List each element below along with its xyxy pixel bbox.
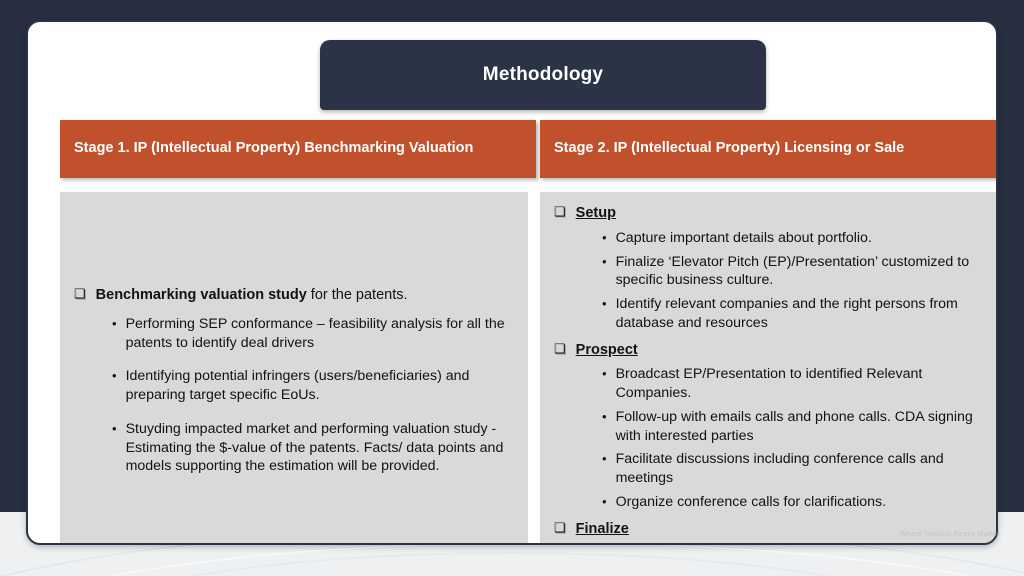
list-item: • Finalize ‘Elevator Pitch (EP)/Presenta… (602, 253, 994, 290)
stage-1-column: Stage 1. IP (Intellectual Property) Benc… (60, 120, 536, 545)
list-item-text: Term sheet discussions, negotiations and… (616, 544, 994, 545)
stage-2-panel: ❑ Setup • Capture important details abou… (540, 192, 998, 545)
stage-1-header: Stage 1. IP (Intellectual Property) Benc… (60, 120, 536, 178)
prospect-heading-text: Prospect (576, 341, 994, 360)
list-item-text: Broadcast EP/Presentation to identified … (616, 365, 994, 402)
list-item-text: Identify relevant companies and the righ… (616, 295, 994, 332)
dot-bullet-icon: • (112, 315, 117, 332)
list-item-text: Organize conference calls for clarificat… (616, 493, 994, 512)
list-item: • Facilitate discussions including confe… (602, 450, 994, 487)
dot-bullet-icon: • (602, 450, 607, 467)
stage-1-group: ❑ Benchmarking valuation study for the p… (74, 286, 514, 476)
dot-bullet-icon: • (602, 544, 607, 545)
dot-bullet-icon: • (112, 420, 117, 437)
dot-bullet-icon: • (602, 253, 607, 270)
list-item: • Broadcast EP/Presentation to identifie… (602, 365, 994, 402)
stage-1-panel: ❑ Benchmarking valuation study for the p… (60, 192, 528, 545)
finalize-heading-label: Finalize (576, 521, 629, 537)
prospect-heading-label: Prospect (576, 342, 638, 358)
list-item: • Capture important details about portfo… (602, 229, 994, 248)
setup-heading: ❑ Setup (548, 204, 994, 223)
stage-2-column: Stage 2. IP (Intellectual Property) Lice… (540, 120, 998, 545)
list-item: • Follow-up with emails calls and phone … (602, 408, 994, 445)
list-item-text: Identifying potential infringers (users/… (126, 367, 514, 404)
setup-heading-text: Setup (576, 204, 994, 223)
finalize-bullet-list: • Term sheet discussions, negotiations a… (602, 544, 994, 545)
prospect-heading: ❑ Prospect (548, 341, 994, 360)
stage-1-heading-suffix: for the patents. (307, 287, 408, 303)
dot-bullet-icon: • (602, 229, 607, 246)
list-item-text: Stuyding impacted market and performing … (126, 420, 514, 476)
setup-heading-label: Setup (576, 205, 616, 221)
stage-2-header: Stage 2. IP (Intellectual Property) Lice… (540, 120, 998, 178)
dot-bullet-icon: • (112, 367, 117, 384)
watermark-text: Where Results Really Matter (900, 531, 1000, 538)
stage-2-group-setup: ❑ Setup • Capture important details abou… (548, 204, 994, 333)
page-title: Methodology (483, 64, 603, 86)
stage-1-bullet-list: • Performing SEP conformance – feasibili… (112, 315, 514, 476)
list-item: • Identify relevant companies and the ri… (602, 295, 994, 332)
slide-title-tab: Methodology (320, 40, 766, 110)
list-item-text: Capture important details about portfoli… (616, 229, 994, 248)
dot-bullet-icon: • (602, 408, 607, 425)
square-bullet-icon: ❑ (554, 341, 566, 357)
square-bullet-icon: ❑ (554, 520, 566, 536)
square-bullet-icon: ❑ (74, 286, 86, 302)
list-item: • Stuyding impacted market and performin… (112, 420, 514, 476)
setup-bullet-list: • Capture important details about portfo… (602, 229, 994, 333)
list-item-text: Performing SEP conformance – feasibility… (126, 315, 514, 352)
stage-1-group-heading: ❑ Benchmarking valuation study for the p… (74, 286, 514, 305)
stage-1-heading-text: Benchmarking valuation study for the pat… (96, 286, 514, 305)
slide-card: Methodology Stage 1. IP (Intellectual Pr… (26, 20, 998, 545)
dot-bullet-icon: • (602, 493, 607, 510)
prospect-bullet-list: • Broadcast EP/Presentation to identifie… (602, 365, 994, 511)
list-item-text: Facilitate discussions including confere… (616, 450, 994, 487)
list-item: • Organize conference calls for clarific… (602, 493, 994, 512)
list-item: • Identifying potential infringers (user… (112, 367, 514, 404)
dot-bullet-icon: • (602, 295, 607, 312)
stage-2-group-prospect: ❑ Prospect • Broadcast EP/Presentation t… (548, 341, 994, 512)
list-item-text: Finalize ‘Elevator Pitch (EP)/Presentati… (616, 253, 994, 290)
dot-bullet-icon: • (602, 365, 607, 382)
square-bullet-icon: ❑ (554, 204, 566, 220)
list-item: • Performing SEP conformance – feasibili… (112, 315, 514, 352)
list-item-text: Follow-up with emails calls and phone ca… (616, 408, 994, 445)
stage-1-heading-bold: Benchmarking valuation study (96, 287, 307, 303)
list-item: • Term sheet discussions, negotiations a… (602, 544, 994, 545)
